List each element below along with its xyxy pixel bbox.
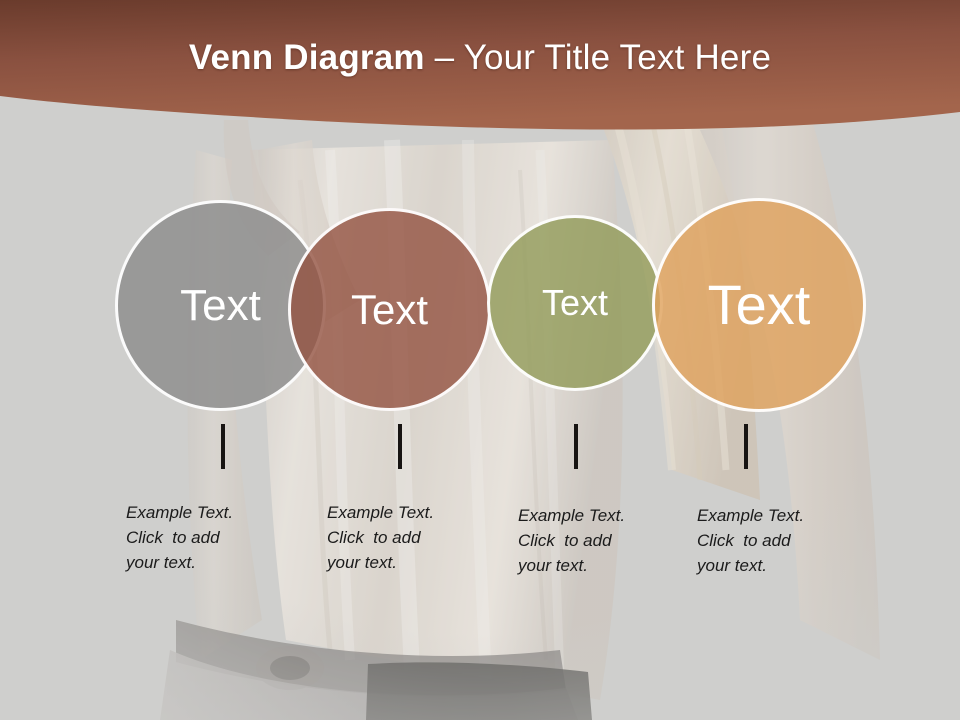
- caption-3-line-1: Example Text.: [518, 503, 668, 528]
- venn-circle-4-label: Text: [708, 277, 811, 333]
- venn-circle-1-label: Text: [180, 284, 261, 328]
- caption-4-line-1: Example Text.: [697, 503, 847, 528]
- caption-3-line-3: your text.: [518, 553, 668, 578]
- connector-tick-3: [574, 424, 578, 469]
- venn-circle-2-label: Text: [351, 289, 428, 331]
- venn-circle-3[interactable]: Text: [487, 215, 663, 391]
- caption-block-3[interactable]: Example Text. Click to add your text.: [518, 503, 668, 578]
- page-title-rest: Your Title Text Here: [464, 38, 772, 77]
- caption-block-2[interactable]: Example Text. Click to add your text.: [327, 500, 477, 575]
- caption-block-1[interactable]: Example Text. Click to add your text.: [126, 500, 276, 575]
- caption-3-line-2: Click to add: [518, 528, 668, 553]
- caption-1-line-1: Example Text.: [126, 500, 276, 525]
- connector-tick-4: [744, 424, 748, 469]
- connector-tick-2: [398, 424, 402, 469]
- page-title-bold: Venn Diagram: [189, 38, 425, 77]
- caption-block-4[interactable]: Example Text. Click to add your text.: [697, 503, 847, 578]
- caption-2-line-1: Example Text.: [327, 500, 477, 525]
- caption-1-line-3: your text.: [126, 550, 276, 575]
- caption-4-line-2: Click to add: [697, 528, 847, 553]
- page-title: Venn Diagram – Your Title Text Here: [0, 38, 960, 78]
- caption-2-line-2: Click to add: [327, 525, 477, 550]
- caption-1-line-2: Click to add: [126, 525, 276, 550]
- caption-2-line-3: your text.: [327, 550, 477, 575]
- caption-4-line-3: your text.: [697, 553, 847, 578]
- page-title-separator: –: [425, 38, 464, 77]
- slide-canvas: Text Text Text Text Example Text. Click …: [0, 0, 960, 720]
- connector-tick-1: [221, 424, 225, 469]
- venn-circle-4[interactable]: Text: [652, 198, 866, 412]
- venn-circle-3-label: Text: [542, 285, 608, 321]
- venn-circle-2[interactable]: Text: [288, 208, 491, 411]
